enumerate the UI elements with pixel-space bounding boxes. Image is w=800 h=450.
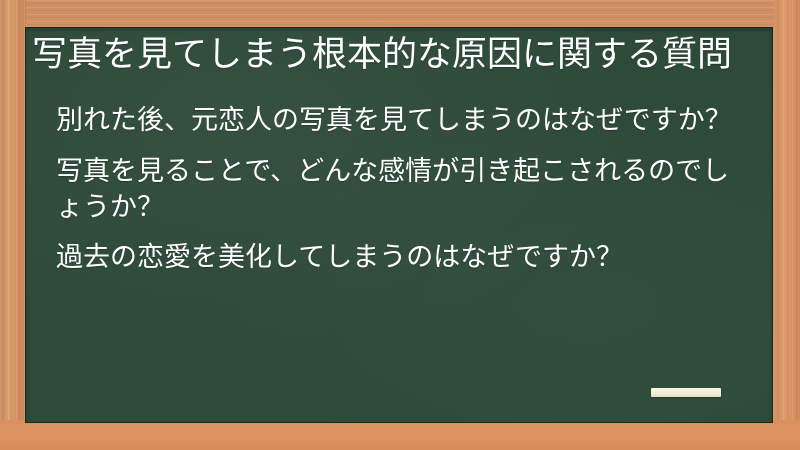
chalkboard-slide: 写真を見てしまう根本的な原因に関する質問 別れた後、元恋人の写真を見てしまうのは… bbox=[0, 0, 800, 450]
chalkboard-surface: 写真を見てしまう根本的な原因に関する質問 別れた後、元恋人の写真を見てしまうのは… bbox=[25, 27, 773, 423]
question-item: 写真を見ることで、どんな感情が引き起こされるのでしょうか？ bbox=[32, 154, 755, 227]
chalkboard-content: 写真を見てしまう根本的な原因に関する質問 別れた後、元恋人の写真を見てしまうのは… bbox=[25, 27, 773, 423]
question-item: 過去の恋愛を美化してしまうのはなぜですか？ bbox=[32, 240, 755, 276]
wooden-frame-bottom bbox=[0, 420, 800, 450]
wooden-frame-right bbox=[774, 0, 800, 450]
question-item: 別れた後、元恋人の写真を見てしまうのはなぜですか？ bbox=[32, 103, 755, 139]
wooden-frame-left bbox=[0, 0, 26, 450]
slide-title: 写真を見てしまう根本的な原因に関する質問 bbox=[32, 33, 732, 77]
question-list: 別れた後、元恋人の写真を見てしまうのはなぜですか？ 写真を見ることで、どんな感情… bbox=[32, 103, 755, 277]
chalk-stick-icon bbox=[651, 388, 721, 397]
